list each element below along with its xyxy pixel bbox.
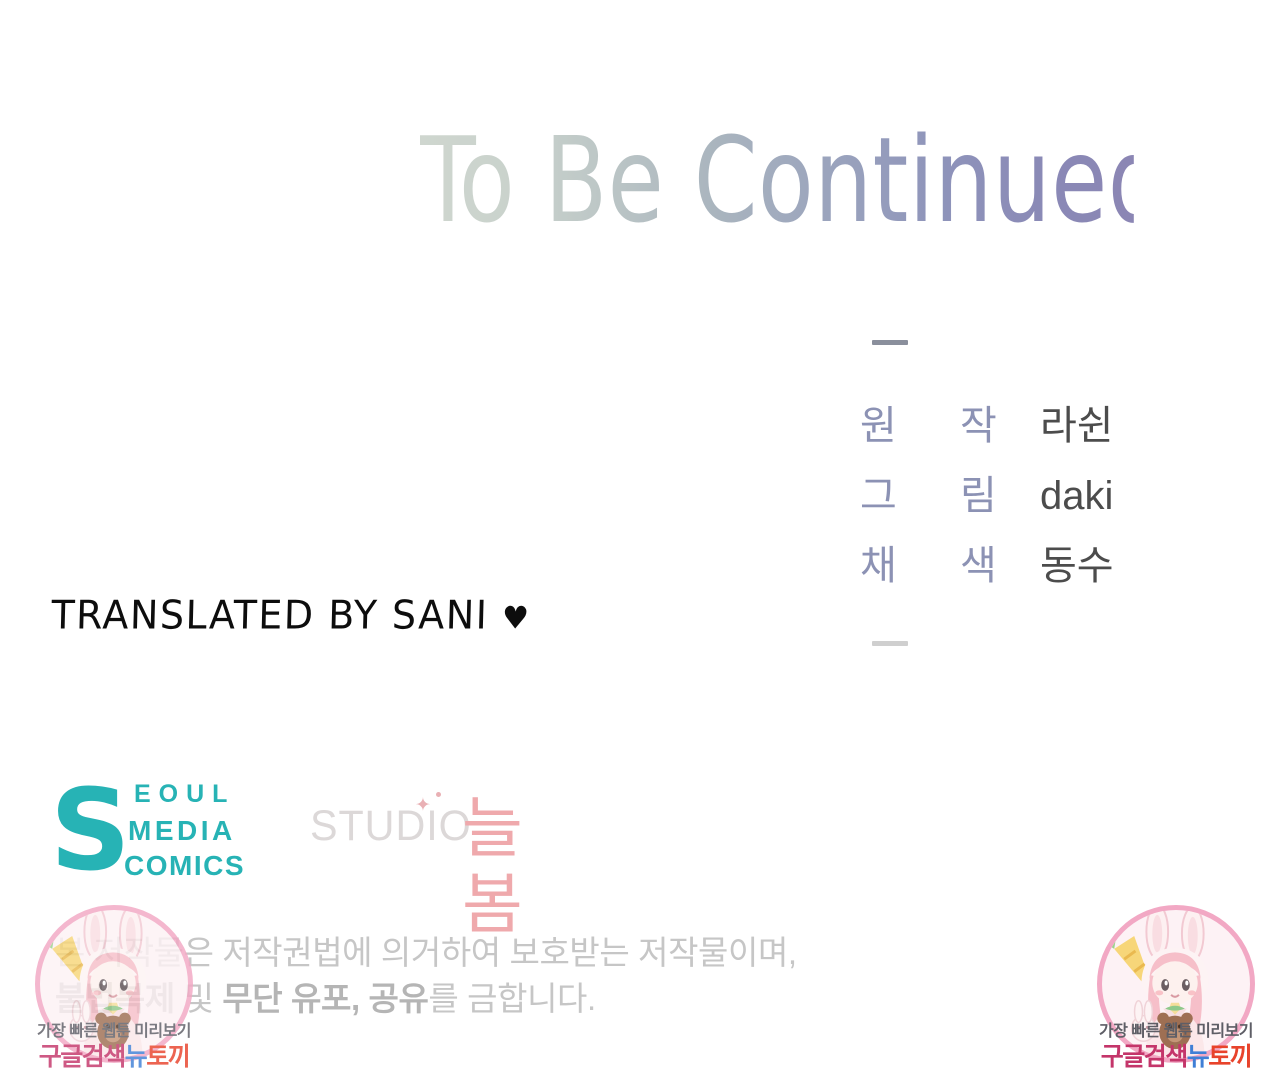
credit-role-char: 색 bbox=[960, 533, 997, 591]
sparkle-dot-icon bbox=[436, 792, 441, 797]
credit-role-char: 작 bbox=[960, 393, 997, 451]
copyright-prohibited-text: 를 금합니다. bbox=[428, 980, 595, 1017]
watermark-brand-part-2: 뉴 bbox=[1187, 1043, 1209, 1071]
credit-role-original: 원작 bbox=[860, 393, 1040, 451]
studio-korean-name: 늘봄 bbox=[462, 790, 580, 942]
credit-role-color: 채색 bbox=[860, 533, 1040, 591]
credits-top-divider bbox=[872, 340, 908, 345]
watermark-brand-part-1: 구글검색 bbox=[39, 1043, 125, 1071]
studio-wordmark: STUDIO bbox=[310, 802, 472, 851]
watermark-brand: 구글검색뉴토끼 bbox=[1090, 1037, 1262, 1073]
credits-bottom-divider bbox=[872, 641, 908, 646]
credit-row-art: 그림 daki bbox=[860, 463, 1210, 533]
credit-row-color: 채색 동수 bbox=[860, 533, 1210, 603]
credit-role-char: 림 bbox=[960, 463, 997, 521]
seoul-media-line-comics: COMICS bbox=[124, 850, 245, 882]
webtoon-end-card: To Be Continued 원작 라쉰 그림 daki 채색 동수 TRAN… bbox=[0, 0, 1280, 1092]
copyright-distribution-text: 무단 유포, 공유 bbox=[222, 980, 428, 1017]
credit-name-art: daki bbox=[1040, 474, 1113, 519]
watermark-brand-part-2: 뉴 bbox=[125, 1043, 147, 1071]
seoul-media-comics-logo: S EOUL MEDIA COMICS bbox=[50, 779, 275, 883]
credit-role-char: 원 bbox=[860, 393, 960, 451]
credits-block: 원작 라쉰 그림 daki 채색 동수 bbox=[860, 340, 1210, 646]
translator-credit: TRANSLATED BY SANI ♥ bbox=[51, 592, 531, 638]
seoul-media-s-mark: S bbox=[50, 775, 131, 887]
page-title: To Be Continued bbox=[420, 118, 1134, 243]
translator-credit-text: TRANSLATED BY SANI bbox=[51, 592, 489, 638]
watermark-brand-part-3: 토끼 bbox=[146, 1043, 189, 1071]
watermark-brand-part-1: 구글검색 bbox=[1101, 1043, 1187, 1071]
watermark-brand-part-3: 토끼 bbox=[1208, 1043, 1251, 1071]
credit-role-char: 채 bbox=[860, 533, 960, 591]
credit-name-color: 동수 bbox=[1040, 533, 1114, 591]
seoul-media-line-media: MEDIA bbox=[128, 815, 236, 847]
credit-role-char: 그 bbox=[860, 463, 960, 521]
studio-neulbom-logo: STUDIO ✦ 늘봄 bbox=[310, 794, 580, 874]
seoul-media-line-eoul: EOUL bbox=[134, 780, 235, 809]
heart-icon: ♥ bbox=[501, 600, 530, 636]
watermark-right: 가장 빠른 웹툰 미리보기 구글검색뉴토끼 bbox=[1090, 905, 1262, 1090]
credit-name-original: 라쉰 bbox=[1040, 393, 1114, 451]
watermark-brand: 구글검색뉴토끼 bbox=[28, 1037, 200, 1073]
sparkle-star-icon: ✦ bbox=[415, 796, 431, 815]
credit-row-original: 원작 라쉰 bbox=[860, 393, 1210, 463]
watermark-left: 가장 빠른 웹툰 미리보기 구글검색뉴토끼 bbox=[28, 905, 200, 1090]
credit-role-art: 그림 bbox=[860, 463, 1040, 521]
